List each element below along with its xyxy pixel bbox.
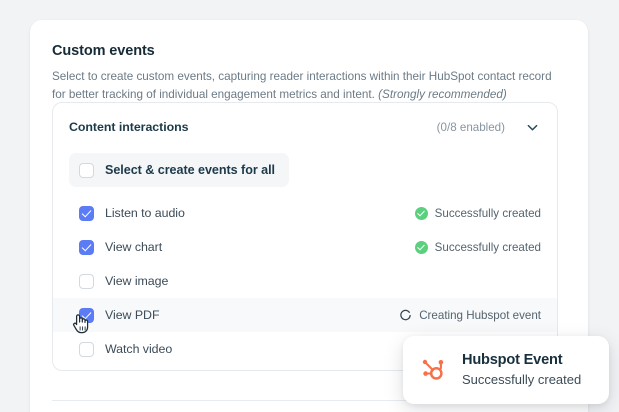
select-all-checkbox[interactable] — [79, 163, 94, 178]
section-header: Custom events Select to create custom ev… — [30, 20, 588, 103]
toast-subtitle: Successfully created — [462, 371, 581, 389]
check-circle-icon — [415, 241, 428, 254]
event-status: Successfully created — [415, 241, 541, 254]
content-interactions-title: Content interactions — [69, 120, 437, 134]
event-label: View chart — [105, 240, 415, 254]
status-badge: Successfully created — [435, 241, 541, 254]
section-description-emphasis: (Strongly recommended) — [378, 88, 507, 101]
list-item[interactable]: View chart Successfully created — [53, 230, 557, 264]
event-label: Listen to audio — [105, 206, 415, 220]
list-item[interactable]: View image — [53, 264, 557, 298]
toast-notification[interactable]: Hubspot Event Successfully created — [403, 336, 609, 404]
event-label: View PDF — [105, 308, 399, 322]
check-circle-icon — [415, 207, 428, 220]
event-checkbox[interactable] — [79, 342, 94, 357]
enabled-count-badge: (0/8 enabled) — [437, 121, 505, 134]
event-status: Successfully created — [415, 207, 541, 220]
status-badge: Creating Hubspot event — [419, 309, 541, 322]
toast-body: Hubspot Event Successfully created — [462, 351, 581, 389]
event-checkbox[interactable] — [79, 240, 94, 255]
page-title: Custom events — [52, 42, 566, 60]
event-checkbox[interactable] — [79, 206, 94, 221]
select-all-events-row[interactable]: Select & create events for all — [69, 153, 289, 187]
toast-title: Hubspot Event — [462, 351, 581, 370]
section-description-line2: better tracking of individual engagement… — [69, 88, 378, 101]
event-checkbox[interactable] — [79, 274, 94, 289]
event-status: Creating Hubspot event — [399, 309, 541, 322]
list-item[interactable]: Listen to audio Successfully created — [53, 196, 557, 230]
select-all-label: Select & create events for all — [105, 163, 275, 177]
spinner-icon — [399, 309, 412, 322]
status-badge: Successfully created — [435, 207, 541, 220]
hubspot-logo-icon — [419, 355, 449, 385]
section-description: Select to create custom events, capturin… — [52, 68, 557, 103]
event-label: View image — [105, 274, 541, 288]
event-checkbox[interactable] — [79, 308, 94, 323]
content-interactions-panel: Content interactions (0/8 enabled) Selec… — [52, 102, 558, 371]
list-item[interactable]: View PDF Creating Hubspot event — [53, 298, 557, 332]
content-interactions-header[interactable]: Content interactions (0/8 enabled) — [53, 103, 557, 149]
chevron-down-icon[interactable] — [523, 118, 541, 136]
